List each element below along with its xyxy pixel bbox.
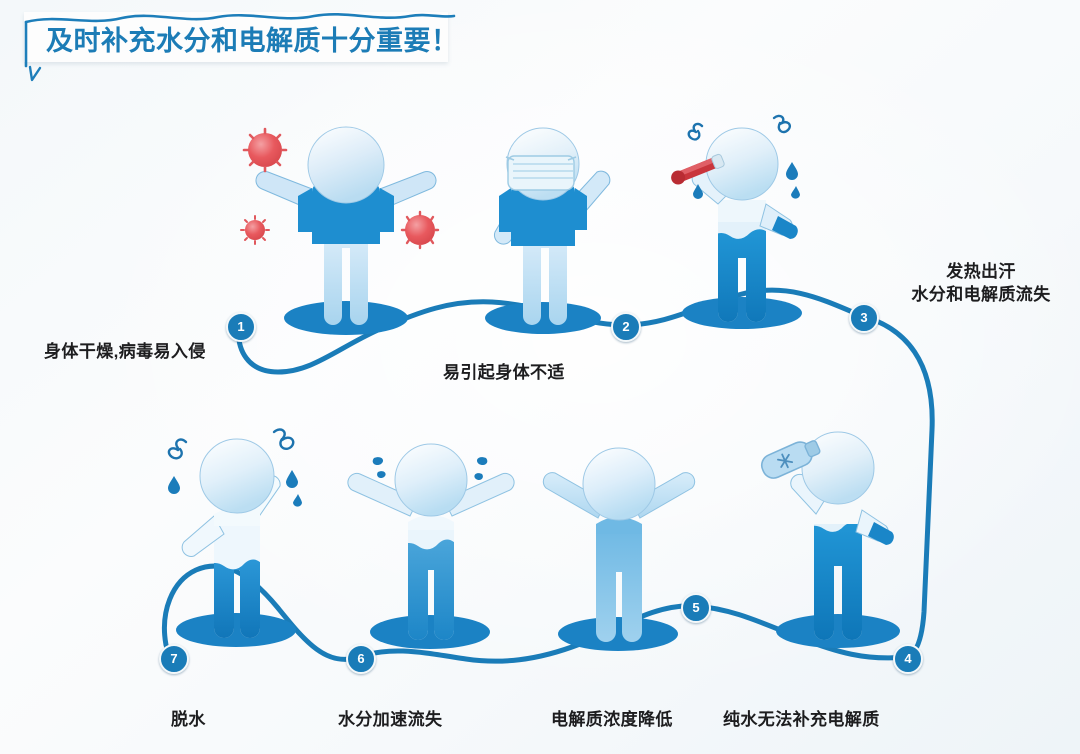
ground-shadow	[485, 302, 601, 334]
figure-drinking-plain-water	[738, 418, 958, 658]
virus-icon	[402, 212, 438, 248]
page-title: 及时补充水分和电解质十分重要！	[46, 19, 459, 58]
figure-dehydrated	[140, 418, 360, 658]
step-badge-7[interactable]: 7	[159, 644, 189, 674]
ground-shadow	[558, 617, 678, 651]
ground-shadow	[776, 614, 900, 648]
caption-step-6: 水分加速流失	[338, 705, 442, 730]
step-badge-2[interactable]: 2	[611, 312, 641, 342]
caption-step-3-line2: 水分和电解质流失	[886, 283, 1076, 306]
caption-step-2: 易引起身体不适	[443, 358, 565, 383]
step-badge-5[interactable]: 5	[681, 593, 711, 623]
step-badge-3[interactable]: 3	[849, 303, 879, 333]
caption-step-4: 纯水无法补充电解质	[723, 705, 880, 730]
caption-step-1: 身体干燥,病毒易入侵	[44, 337, 206, 362]
ground-shadow	[176, 613, 296, 647]
step-badge-4[interactable]: 4	[893, 644, 923, 674]
figure-masked-unwell	[455, 120, 645, 340]
ground-shadow	[370, 615, 490, 649]
ground-shadow	[284, 301, 408, 335]
figure-accelerated-water-loss	[330, 428, 545, 663]
virus-icon	[244, 129, 286, 171]
figure-diluted-electrolytes	[520, 432, 730, 662]
title-speech-bubble: 及时补充水分和电解质十分重要！	[24, 12, 448, 62]
step-badge-1[interactable]: 1	[226, 312, 256, 342]
caption-step-7: 脱水	[171, 705, 206, 730]
figure-dry-body-virus	[238, 120, 468, 340]
virus-icon	[241, 216, 269, 244]
face-mask-icon	[506, 156, 576, 190]
step-badge-6[interactable]: 6	[346, 644, 376, 674]
caption-step-3-line1: 发热出汗	[886, 260, 1076, 283]
caption-step-5: 电解质浓度降低	[551, 705, 673, 730]
infographic-poster: 及时补充水分和电解质十分重要！	[0, 0, 1080, 754]
ground-shadow	[682, 297, 802, 329]
caption-step-3: 发热出汗 水分和电解质流失	[886, 260, 1076, 306]
figure-fever-thermometer-sweat	[650, 108, 870, 338]
